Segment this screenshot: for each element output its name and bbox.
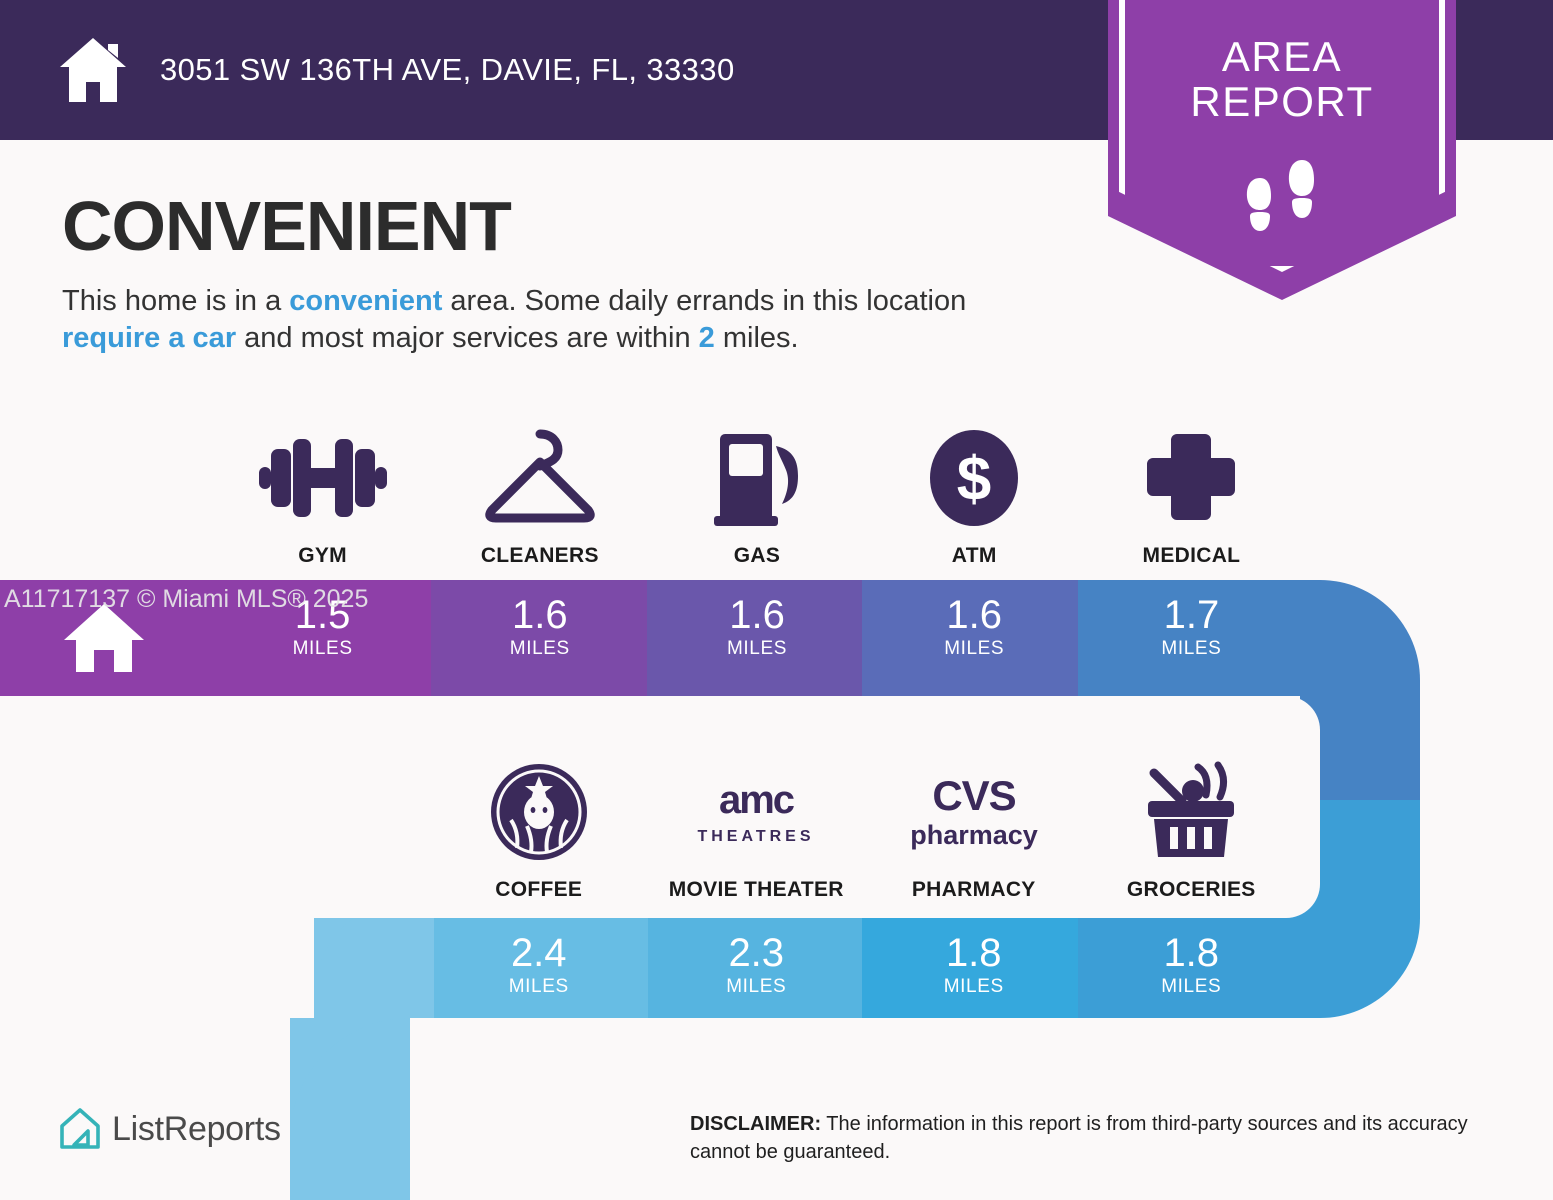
category-label: GYM — [298, 544, 347, 568]
category-atm: $ ATM — [866, 418, 1083, 568]
distance-gas: 1.6 MILES — [648, 580, 865, 696]
row1-categories: GYM CLEANERS GAS $ ATM — [214, 418, 1300, 568]
distance-value: 2.4 — [430, 932, 648, 974]
category-label: ATM — [952, 544, 997, 568]
svg-text:amc: amc — [719, 778, 795, 822]
category-label: COFFEE — [495, 878, 582, 902]
row2-categories: COFFEE amc THEATRES MOVIE THEATER CVS ph… — [430, 742, 1300, 902]
category-label: MOVIE THEATER — [669, 878, 844, 902]
listreports-logo-text: ListReports — [112, 1110, 281, 1149]
area-report-badge-text: AREA REPORT — [1108, 34, 1456, 124]
medical-cross-icon — [1141, 425, 1241, 530]
row2-distances: 2.4 MILES 2.3 MILES 1.8 MILES 1.8 MILES — [430, 918, 1300, 1034]
category-label: GROCERIES — [1127, 878, 1256, 902]
distance-unit: MILES — [648, 638, 865, 660]
category-coffee: COFFEE — [430, 742, 648, 902]
distance-value: 1.8 — [1083, 932, 1301, 974]
gas-pump-icon — [702, 425, 812, 530]
distance-value: 1.6 — [431, 594, 648, 636]
distance-value: 1.6 — [648, 594, 865, 636]
band-tail-notch — [410, 1018, 530, 1138]
badge-line-2: REPORT — [1108, 79, 1456, 124]
starbucks-logo-icon — [487, 759, 591, 864]
dollar-coin-icon: $ — [924, 425, 1024, 530]
distance-unit: MILES — [1083, 976, 1301, 998]
distance-value: 2.3 — [648, 932, 866, 974]
distance-medical: 1.7 MILES — [1083, 580, 1300, 696]
distance-unit: MILES — [214, 638, 431, 660]
dumbbell-icon — [257, 425, 389, 530]
distance-atm: 1.6 MILES — [866, 580, 1083, 696]
badge-line-1: AREA — [1108, 34, 1456, 79]
svg-text:pharmacy: pharmacy — [910, 820, 1038, 850]
category-label: PHARMACY — [912, 878, 1036, 902]
footprints-icon — [1240, 152, 1334, 242]
category-gas: GAS — [648, 418, 865, 568]
mls-watermark: A11717137 © Miami MLS® 2025 — [4, 585, 368, 614]
distance-unit: MILES — [866, 638, 1083, 660]
svg-text:THEATRES: THEATRES — [698, 828, 815, 845]
category-pharmacy: CVS pharmacy PHARMACY — [865, 742, 1083, 902]
grocery-basket-icon — [1136, 759, 1246, 864]
distance-groceries: 1.8 MILES — [1083, 918, 1301, 1034]
svg-text:$: $ — [957, 445, 991, 514]
distance-unit: MILES — [430, 976, 648, 998]
category-cleaners: CLEANERS — [431, 418, 648, 568]
distance-movie-theater: 2.3 MILES — [648, 918, 866, 1034]
category-medical: MEDICAL — [1083, 418, 1300, 568]
distance-coffee: 2.4 MILES — [430, 918, 648, 1034]
disclaimer-label: DISCLAIMER: — [690, 1113, 821, 1135]
svg-text:CVS: CVS — [932, 772, 1015, 819]
category-label: GAS — [734, 544, 780, 568]
listreports-logo: ListReports — [58, 1105, 281, 1153]
hanger-icon — [480, 425, 600, 530]
distance-value: 1.8 — [865, 932, 1083, 974]
distance-unit: MILES — [431, 638, 648, 660]
distance-unit: MILES — [865, 976, 1083, 998]
distance-pharmacy: 1.8 MILES — [865, 918, 1083, 1034]
distance-cleaners: 1.6 MILES — [431, 580, 648, 696]
category-groceries: GROCERIES — [1083, 742, 1301, 902]
category-gym: GYM — [214, 418, 431, 568]
distance-value: 1.7 — [1083, 594, 1300, 636]
category-label: MEDICAL — [1143, 544, 1241, 568]
row1-distances: 1.5 MILES 1.6 MILES 1.6 MILES 1.6 MILES … — [214, 580, 1300, 696]
category-movie-theater: amc THEATRES MOVIE THEATER — [648, 742, 866, 902]
distance-unit: MILES — [648, 976, 866, 998]
amc-theatres-logo-icon: amc THEATRES — [686, 759, 826, 864]
cvs-pharmacy-logo-icon: CVS pharmacy — [909, 759, 1039, 864]
disclaimer: DISCLAIMER: The information in this repo… — [690, 1110, 1500, 1166]
category-label: CLEANERS — [481, 544, 599, 568]
distance-value: 1.6 — [866, 594, 1083, 636]
distance-unit: MILES — [1083, 638, 1300, 660]
listreports-house-icon — [58, 1105, 102, 1153]
